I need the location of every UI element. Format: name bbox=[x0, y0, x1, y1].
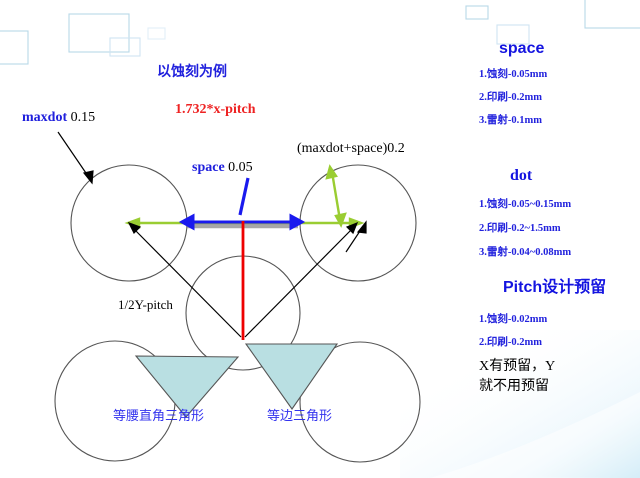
space-label-pointer bbox=[240, 178, 248, 215]
slide-canvas: 以蚀刻为例 1.732*x-pitch maxdot 0.15 space 0.… bbox=[0, 0, 640, 478]
space-item-3: 3.雷射-0.1mm bbox=[479, 115, 542, 126]
dot-item-3: 3.雷射-0.04~0.08mm bbox=[479, 247, 571, 258]
pitch-item-2: 2.印刷-0.2mm bbox=[479, 337, 542, 348]
slide-title: 以蚀刻为例 bbox=[157, 66, 227, 81]
maxdot-space-label: (maxdot+space)0.2 bbox=[297, 142, 405, 157]
dot-item-2: 2.印刷-0.2~1.5mm bbox=[479, 223, 561, 234]
dot-item-1: 1.蚀刻-0.05~0.15mm bbox=[479, 199, 571, 210]
space-label-name: space bbox=[192, 160, 225, 175]
space-item-1: 1.蚀刻-0.05mm bbox=[479, 69, 547, 80]
section-heading-pitch: Pitch设计预留 bbox=[503, 280, 606, 297]
maxdot-label-value: 0.15 bbox=[67, 110, 95, 125]
maxdot-label-name: maxdot bbox=[22, 110, 67, 125]
maxdot-label-pointer bbox=[58, 132, 93, 183]
formula-label: 1.732*x-pitch bbox=[175, 103, 256, 118]
note-line-1: X有预留，Y bbox=[479, 358, 555, 376]
space-label: space 0.05 bbox=[192, 159, 253, 176]
section-heading-space: space bbox=[499, 41, 544, 58]
note-line-2: 就不用预留 bbox=[479, 378, 549, 396]
space-item-2: 2.印刷-0.2mm bbox=[479, 92, 542, 103]
triangle-isosceles-label: 等腰直角三角形 bbox=[113, 409, 204, 423]
space-label-value: 0.05 bbox=[225, 160, 253, 175]
green-maxdot-space-arrow bbox=[327, 167, 345, 225]
pitch-item-1: 1.蚀刻-0.02mm bbox=[479, 314, 547, 325]
section-heading-dot: dot bbox=[510, 168, 532, 185]
half-ypitch-label: 1/2Y-pitch bbox=[118, 298, 173, 312]
triangle-equilateral bbox=[246, 344, 337, 409]
triangle-equilateral-label: 等边三角形 bbox=[267, 409, 332, 423]
maxdot-label: maxdot 0.15 bbox=[22, 109, 95, 126]
